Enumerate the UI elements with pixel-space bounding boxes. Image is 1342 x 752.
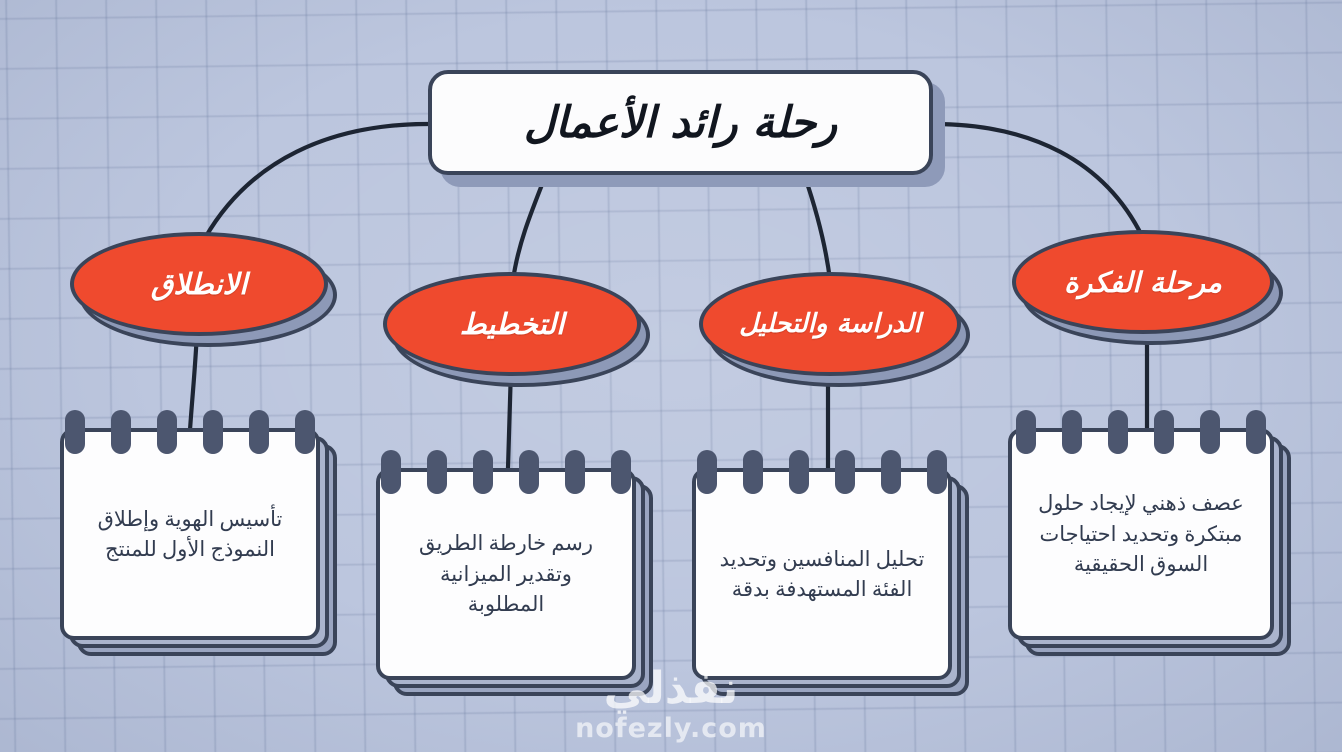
note-card-analysis[interactable]: تحليل المنافسين وتحديد الفئة المستهدفة ب…: [692, 468, 952, 680]
watermark-domain: nofezly.com: [0, 713, 1342, 744]
card-face: تحليل المنافسين وتحديد الفئة المستهدفة ب…: [692, 468, 952, 680]
connector-title-to-planning: [513, 177, 545, 280]
note-card-launch[interactable]: تأسيس الهوية وإطلاق النموذج الأول للمنتج: [60, 428, 320, 640]
connector-title-to-analysis: [805, 177, 830, 280]
note-card-planning[interactable]: رسم خارطة الطريق وتقدير الميزانية المطلو…: [376, 468, 636, 680]
stage-node-planning[interactable]: التخطيط: [383, 272, 641, 376]
ellipse-face: الدراسة والتحليل: [699, 272, 961, 376]
watermark: نفذلي nofezly.com: [0, 667, 1342, 744]
stage-label-idea: مرحلة الفكرة: [1064, 266, 1222, 299]
stage-node-analysis[interactable]: الدراسة والتحليل: [699, 272, 961, 376]
card-face: تأسيس الهوية وإطلاق النموذج الأول للمنتج: [60, 428, 320, 640]
note-card-idea[interactable]: عصف ذهني لإيجاد حلول مبتكرة وتحديد احتيا…: [1008, 428, 1274, 640]
page-title-box[interactable]: رحلة رائد الأعمال: [428, 70, 933, 175]
card-face: عصف ذهني لإيجاد حلول مبتكرة وتحديد احتيا…: [1008, 428, 1274, 640]
card-text-idea: عصف ذهني لإيجاد حلول مبتكرة وتحديد احتيا…: [1032, 488, 1250, 579]
card-face: رسم خارطة الطريق وتقدير الميزانية المطلو…: [376, 468, 636, 680]
ellipse-face: الانطلاق: [70, 232, 328, 336]
card-text-analysis: تحليل المنافسين وتحديد الفئة المستهدفة ب…: [716, 544, 928, 605]
connector-title-to-launch: [205, 124, 428, 238]
stage-node-idea[interactable]: مرحلة الفكرة: [1012, 230, 1274, 334]
stage-label-planning: التخطيط: [460, 307, 564, 341]
ellipse-face: التخطيط: [383, 272, 641, 376]
page-title: رحلة رائد الأعمال: [524, 98, 837, 148]
watermark-arabic: نفذلي: [0, 667, 1342, 711]
ellipse-face: مرحلة الفكرة: [1012, 230, 1274, 334]
card-text-launch: تأسيس الهوية وإطلاق النموذج الأول للمنتج: [84, 504, 296, 565]
card-text-planning: رسم خارطة الطريق وتقدير الميزانية المطلو…: [400, 528, 612, 619]
stage-node-launch[interactable]: الانطلاق: [70, 232, 328, 336]
connector-title-to-idea: [933, 124, 1143, 238]
infographic-canvas: رحلة رائد الأعمال الانطلاق التخطيط الدرا…: [0, 0, 1342, 752]
stage-label-analysis: الدراسة والتحليل: [739, 309, 921, 339]
stage-label-launch: الانطلاق: [151, 267, 247, 301]
